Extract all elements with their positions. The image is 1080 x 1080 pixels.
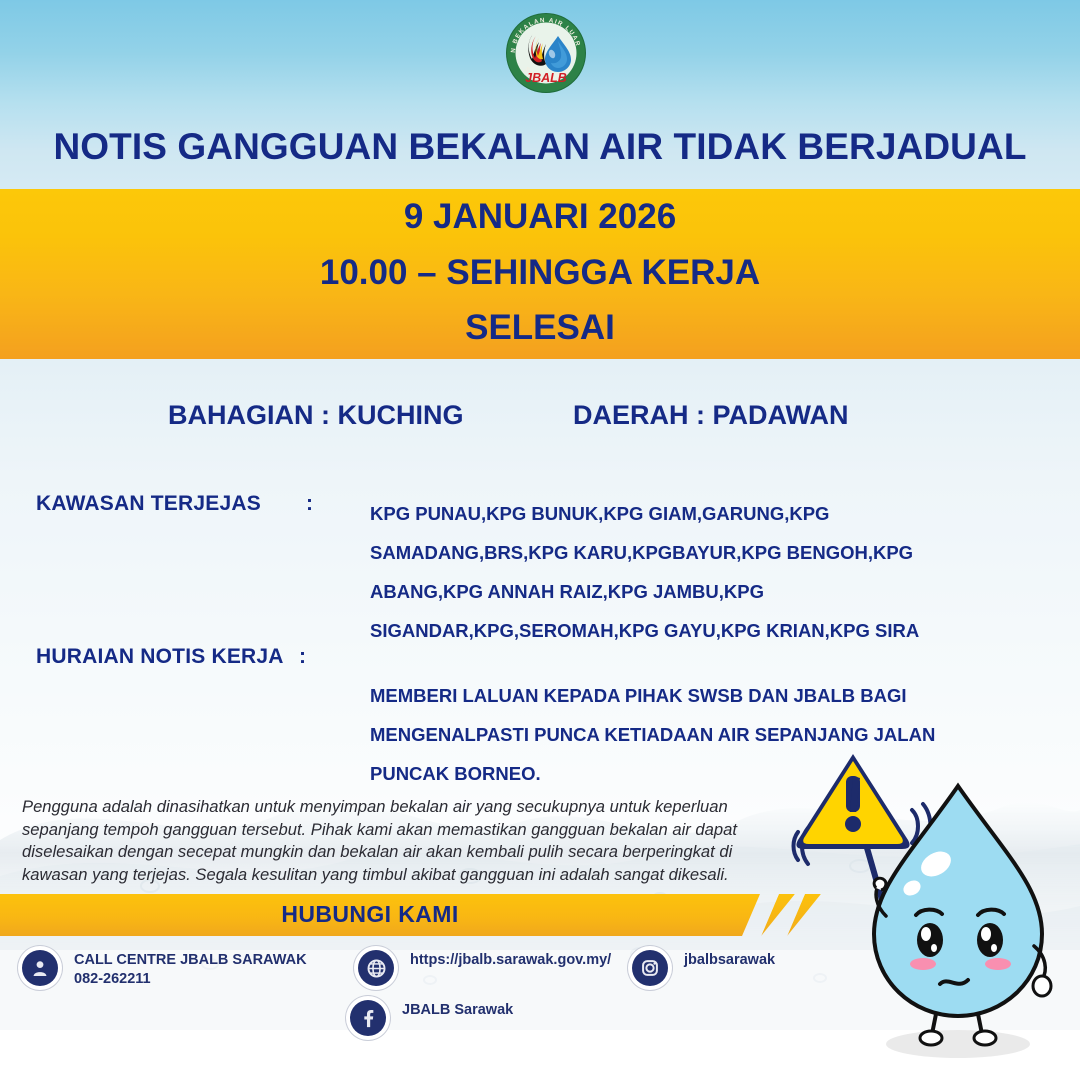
kawasan-terjejas-colon: : bbox=[306, 492, 313, 516]
kawasan-terjejas-values: KPG PUNAU,KPG BUNUK,KPG GIAM,GARUNG,KPG … bbox=[370, 494, 970, 650]
huraian-notis-kerja-label: HURAIAN NOTIS KERJA bbox=[36, 645, 284, 669]
kawasan-line: SAMADANG,BRS,KPG KARU,KPGBAYUR,KPG BENGO… bbox=[370, 533, 970, 572]
kawasan-line: ABANG,KPG ANNAH RAIZ,KPG JAMBU,KPG bbox=[370, 572, 970, 611]
globe-icon bbox=[358, 950, 394, 986]
notice-time-line2: SELESAI bbox=[0, 308, 1080, 348]
notice-poster: JABATAN BEKALAN AIR LUAR BANDAR SARAWAK … bbox=[0, 0, 1080, 1080]
call-centre-line2: 082-262211 bbox=[74, 970, 307, 989]
instagram-icon bbox=[632, 950, 668, 986]
daerah-label: DAERAH : PADAWAN bbox=[573, 400, 849, 431]
call-centre-line1: CALL CENTRE JBALB SARAWAK bbox=[74, 951, 307, 970]
huraian-notis-kerja-colon: : bbox=[299, 645, 306, 669]
notice-time-line1: 10.00 – SEHINGGA KERJA bbox=[0, 253, 1080, 293]
logo-acronym: JBALB bbox=[525, 71, 567, 85]
hubungi-kami-label: HUBUNGI KAMI bbox=[0, 901, 740, 928]
kawasan-line: KPG PUNAU,KPG BUNUK,KPG GIAM,GARUNG,KPG bbox=[370, 494, 970, 533]
region-row: BAHAGIAN : KUCHING DAERAH : PADAWAN bbox=[0, 400, 1080, 440]
kawasan-line: SIGANDAR,KPG,SEROMAH,KPG GAYU,KPG KRIAN,… bbox=[370, 611, 970, 650]
website-url[interactable]: https://jbalb.sarawak.gov.my/ bbox=[410, 951, 611, 970]
call-centre-text: CALL CENTRE JBALB SARAWAK 082-262211 bbox=[74, 951, 307, 989]
facebook-icon bbox=[350, 1000, 386, 1036]
notice-date: 9 JANUARI 2026 bbox=[0, 197, 1080, 237]
bahagian-label: BAHAGIAN : KUCHING bbox=[168, 400, 463, 431]
water-droplet-mascot bbox=[790, 748, 1080, 1068]
kawasan-terjejas-label: KAWASAN TERJEJAS bbox=[36, 492, 261, 516]
jbalb-logo: JABATAN BEKALAN AIR LUAR BANDAR SARAWAK … bbox=[505, 12, 587, 94]
instagram-handle[interactable]: jbalbsarawak bbox=[684, 951, 775, 970]
facebook-page-name[interactable]: JBALB Sarawak bbox=[402, 1001, 513, 1020]
person-icon bbox=[22, 950, 58, 986]
poster-title: NOTIS GANGGUAN BEKALAN AIR TIDAK BERJADU… bbox=[0, 126, 1080, 168]
disclaimer-text: Pengguna adalah dinasihatkan untuk menyi… bbox=[22, 796, 770, 886]
huraian-line: MEMBERI LALUAN KEPADA PIHAK SWSB DAN JBA… bbox=[370, 676, 970, 715]
